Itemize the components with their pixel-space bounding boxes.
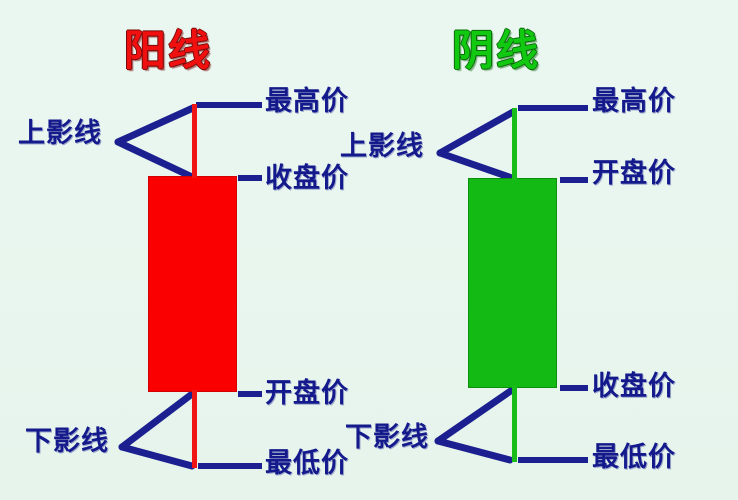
bullish-label-lower-shadow: 下影线 (25, 428, 109, 455)
bullish-red-candle-body (148, 176, 237, 392)
bearish-label-lower-shadow: 下影线 (345, 424, 429, 451)
right-lower-shadow-bracket-bottom (438, 441, 510, 460)
bearish-label-open-price: 开盘价 (592, 160, 676, 187)
bullish-label-upper-shadow: 上影线 (18, 120, 102, 147)
candlestick-diagram: 阳线 上影线 下影线 最高价 收盘价 开盘价 最低价 阴线 上影线 下影线 最高… (0, 0, 738, 500)
left-upper-shadow-bracket-bottom (118, 142, 190, 176)
bullish-lower-wick (192, 390, 197, 468)
bullish-label-low-price: 最低价 (265, 450, 349, 477)
bearish-label-high-price: 最高价 (592, 88, 676, 115)
left-upper-shadow-bracket-top (118, 108, 193, 142)
bullish-panel-title: 阳线 (124, 30, 212, 72)
bearish-lower-wick (512, 386, 517, 462)
right-upper-shadow-bracket-top (440, 112, 513, 153)
bearish-green-candle-body (468, 178, 557, 388)
bullish-label-high-price: 最高价 (265, 88, 349, 115)
bullish-label-close-price: 收盘价 (265, 165, 349, 192)
bearish-label-upper-shadow: 上影线 (340, 133, 424, 160)
bearish-label-low-price: 最低价 (592, 444, 676, 471)
left-lower-shadow-bracket-bottom (122, 447, 192, 466)
bullish-label-open-price: 开盘价 (265, 380, 349, 407)
right-lower-shadow-bracket-top (438, 390, 512, 441)
bearish-label-close-price: 收盘价 (592, 373, 676, 400)
bullish-upper-wick (192, 104, 197, 178)
left-lower-shadow-bracket-top (122, 394, 192, 447)
bearish-upper-wick (512, 108, 517, 180)
right-upper-shadow-bracket-bottom (440, 153, 512, 178)
bearish-panel-title: 阴线 (452, 30, 540, 72)
